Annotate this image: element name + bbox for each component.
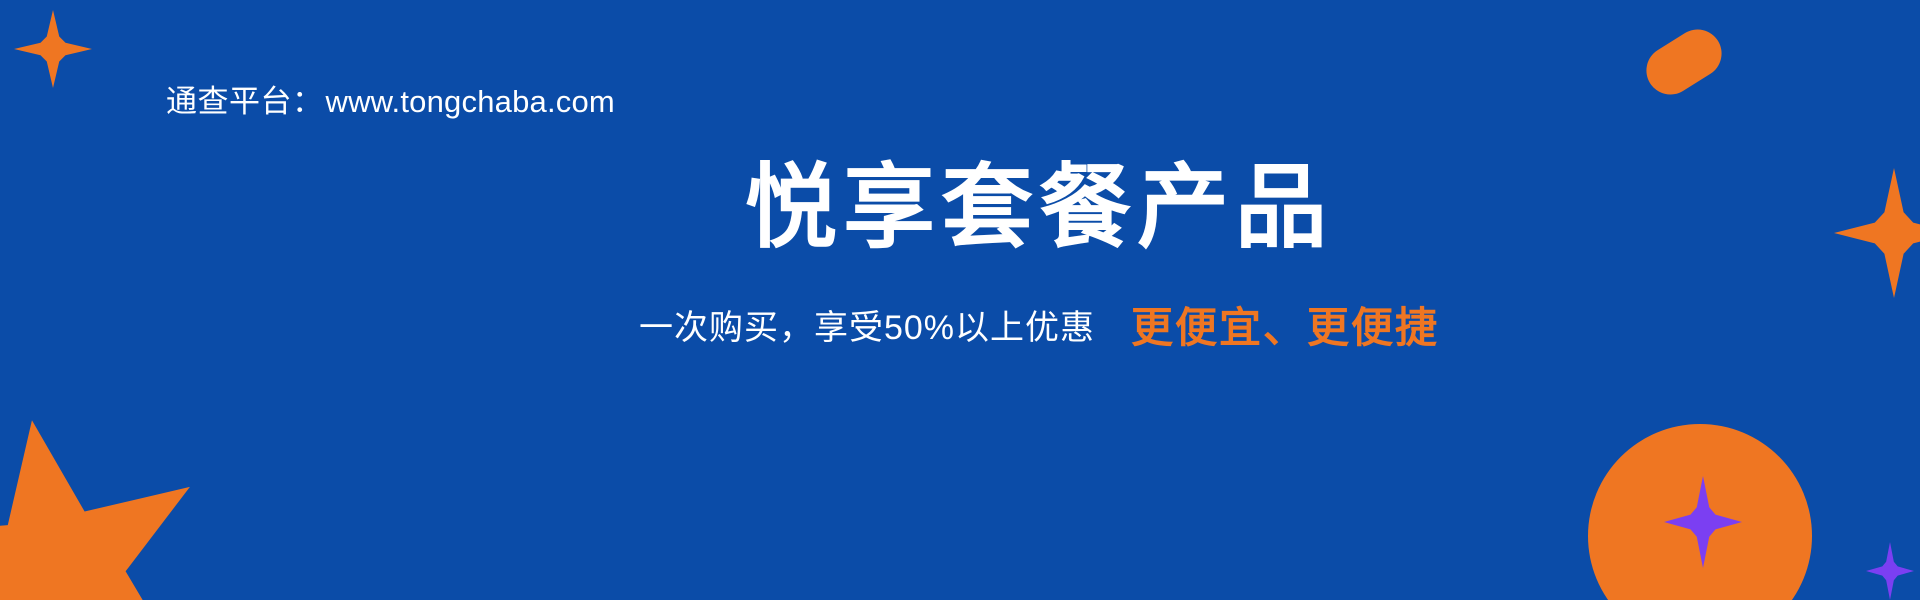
subtitle-main-text: 一次购买，享受50%以上优惠 — [639, 309, 1095, 347]
circle-shape-bottom-right — [1588, 424, 1812, 600]
site-label: 通查平台： — [166, 84, 324, 119]
sparkle-icon-bottom-right-corner — [1866, 542, 1914, 600]
sparkle-icon-in-circle — [1664, 476, 1742, 568]
star-shape-bottom-left — [0, 394, 232, 600]
sparkle-icon-top-left — [14, 10, 92, 88]
subtitle-accent-text: 更便宜、更便捷 — [1131, 304, 1439, 351]
promo-banner: 通查平台：www.tongchaba.com 悦享套餐产品 一次购买，享受50%… — [0, 0, 1920, 600]
site-url-line: 通查平台：www.tongchaba.com — [166, 86, 615, 117]
site-url[interactable]: www.tongchaba.com — [326, 84, 615, 119]
subtitle-line: 一次购买，享受50%以上优惠更便宜、更便捷 — [0, 294, 1920, 355]
pill-shape-top-right — [1637, 20, 1730, 103]
page-title: 悦享套餐产品 — [0, 160, 1920, 257]
